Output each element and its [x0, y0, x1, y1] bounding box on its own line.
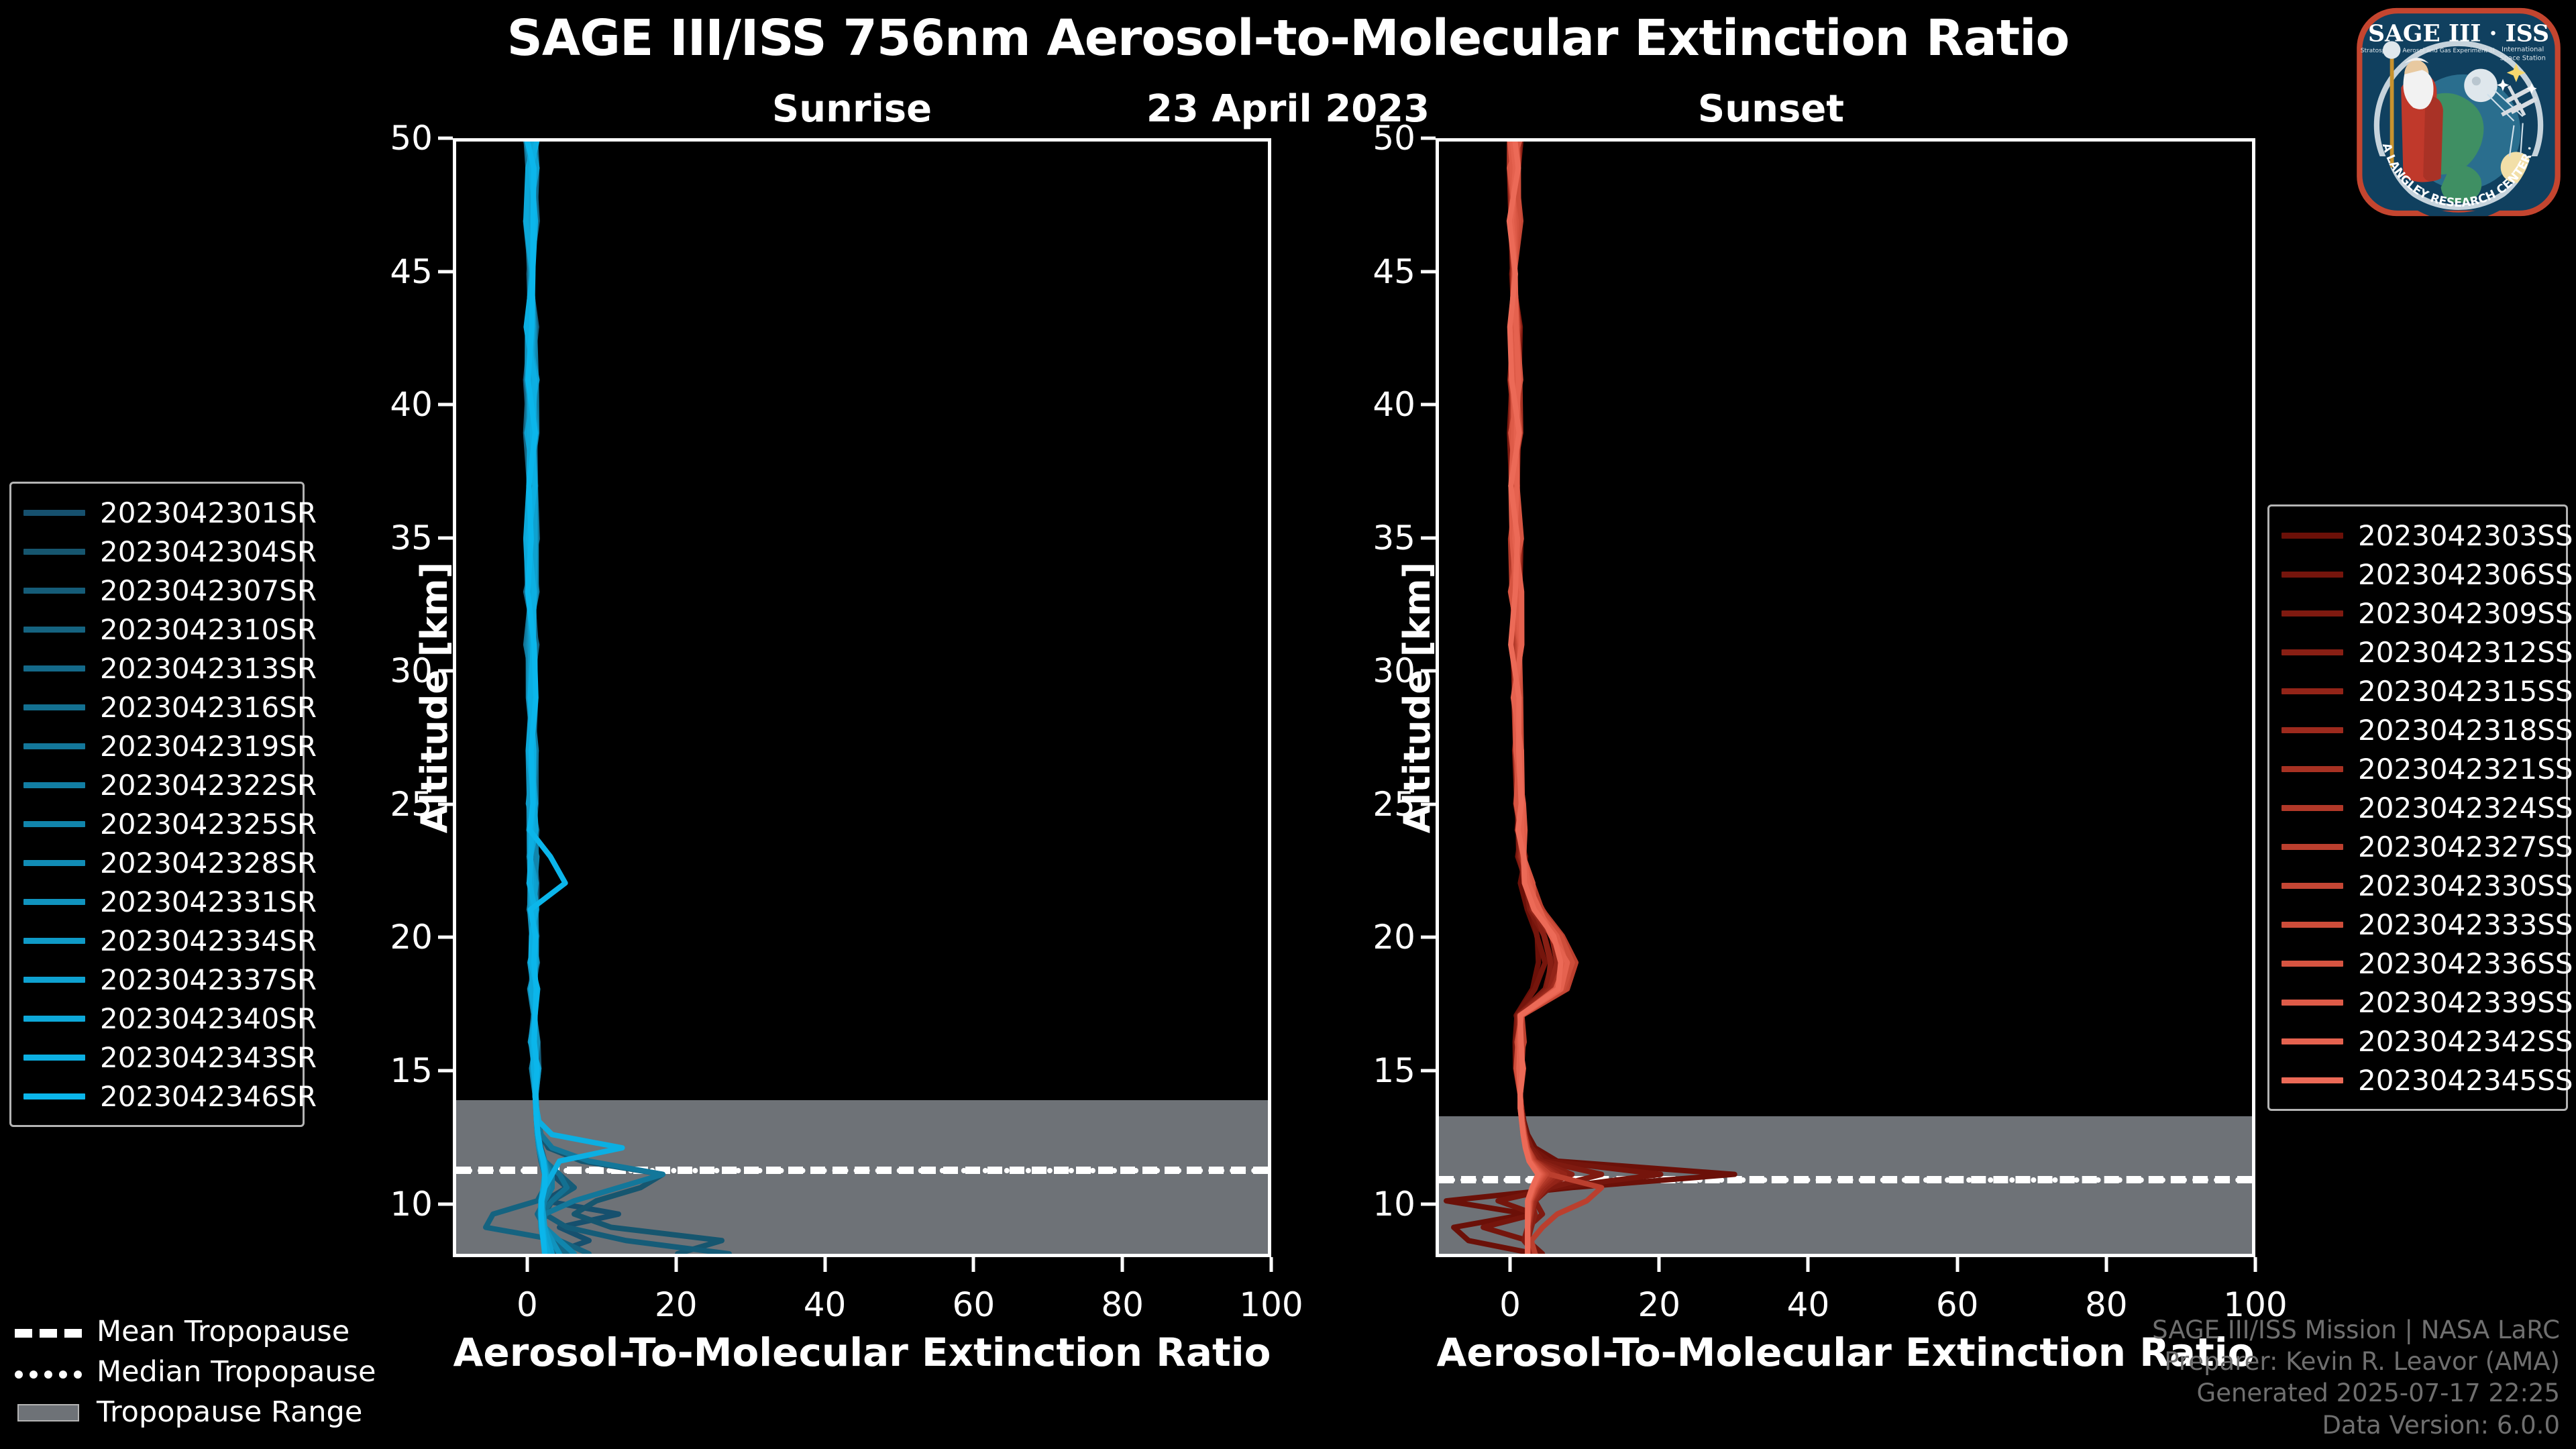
legend-item[interactable]: 2023042339SS: [2282, 983, 2551, 1022]
legend-color-swatch: [23, 549, 85, 555]
y-tick-mark: [1421, 403, 1436, 407]
mean-tropopause-label: Mean Tropopause: [97, 1315, 350, 1348]
y-tick-mark: [1421, 1069, 1436, 1073]
legend-color-swatch: [2282, 1038, 2343, 1044]
y-tick-mark: [1421, 270, 1436, 273]
footer-line-2: Preparer: Kevin R. Leavor (AMA): [2152, 1346, 2560, 1377]
legend-color-swatch: [23, 938, 85, 944]
x-tick-label: 60: [953, 1285, 996, 1324]
legend-item-label: 2023042306SS: [2358, 558, 2573, 591]
x-tick-label: 60: [1936, 1285, 1979, 1324]
footer-line-3: Generated 2025-07-17 22:25: [2152, 1377, 2560, 1409]
sunrise-traces: [456, 142, 1268, 1254]
data-trace: [527, 142, 663, 1254]
legend-item-median-tropopause: Median Tropopause: [15, 1352, 431, 1392]
legend-color-swatch: [2282, 961, 2343, 967]
legend-item-label: 2023042346SR: [100, 1080, 317, 1113]
legend-item[interactable]: 2023042309SS: [2282, 594, 2551, 633]
x-tick-mark: [1121, 1257, 1124, 1272]
legend-color-swatch: [23, 588, 85, 594]
y-tick-mark: [438, 403, 453, 407]
legend-color-swatch: [2282, 883, 2343, 889]
legend-item-label: 2023042342SS: [2358, 1025, 2573, 1058]
legend-item-label: 2023042303SS: [2358, 519, 2573, 552]
legend-item-label: 2023042333SS: [2358, 908, 2573, 941]
logo-line2: Stratospheric Aerosol and Gas Experiment…: [2361, 48, 2495, 54]
legend-color-swatch: [2282, 1000, 2343, 1006]
legend-item-label: 2023042339SS: [2358, 986, 2573, 1019]
sage-iii-iss-logo: SAGE III · ISS Stratospheric Aerosol and…: [2348, 1, 2569, 223]
legend-color-swatch: [23, 821, 85, 827]
tropopause-range-label: Tropopause Range: [97, 1395, 362, 1429]
x-tick-label: 100: [1239, 1285, 1303, 1324]
page-title: SAGE III/ISS 756nm Aerosol-to-Molecular …: [0, 9, 2576, 67]
legend-item[interactable]: 2023042340SR: [23, 999, 288, 1038]
legend-item[interactable]: 2023042321SS: [2282, 749, 2551, 788]
legend-item-label: 2023042336SS: [2358, 947, 2573, 980]
legend-item-label: 2023042313SR: [100, 652, 317, 685]
legend-item[interactable]: 2023042337SR: [23, 960, 288, 999]
legend-item-label: 2023042330SS: [2358, 869, 2573, 902]
x-tick-mark: [1270, 1257, 1273, 1272]
legend-item-label: 2023042318SS: [2358, 714, 2573, 747]
logo-line3b: Space Station: [2500, 54, 2546, 62]
sunrise-plot-frame: [453, 138, 1271, 1257]
legend-item[interactable]: 2023042312SS: [2282, 633, 2551, 672]
legend-item-label: 2023042345SS: [2358, 1064, 2573, 1097]
x-tick-mark: [2104, 1257, 2108, 1272]
median-tropopause-label: Median Tropopause: [97, 1355, 376, 1389]
legend-color-swatch: [23, 860, 85, 866]
legend-item[interactable]: 2023042328SR: [23, 843, 288, 882]
data-trace: [528, 142, 722, 1254]
x-tick-mark: [2254, 1257, 2257, 1272]
legend-color-swatch: [23, 665, 85, 672]
data-trace: [526, 142, 619, 1254]
x-tick-mark: [525, 1257, 529, 1272]
data-trace: [1446, 142, 1735, 1254]
footer-credits: SAGE III/ISS Mission | NASA LaRC Prepare…: [2152, 1314, 2560, 1441]
legend-color-swatch: [2282, 805, 2343, 811]
y-tick-mark: [438, 802, 453, 806]
legend-item-label: 2023042322SR: [100, 769, 317, 802]
sunset-plot-panel: Altitude [km] 101520253035404550 0204060…: [1436, 138, 2255, 1257]
footer-line-1: SAGE III/ISS Mission | NASA LaRC: [2152, 1314, 2560, 1346]
x-tick-mark: [972, 1257, 975, 1272]
legend-item[interactable]: 2023042322SR: [23, 765, 288, 804]
y-tick-mark: [1421, 669, 1436, 673]
legend-item[interactable]: 2023042304SR: [23, 532, 288, 571]
dotted-line-icon: [15, 1363, 82, 1381]
x-axis-label-sunset: Aerosol-To-Molecular Extinction Ratio: [1436, 1330, 2255, 1375]
legend-item[interactable]: 2023042334SR: [23, 921, 288, 960]
data-trace: [527, 142, 729, 1254]
legend-color-swatch: [23, 510, 85, 516]
x-tick-label: 40: [804, 1285, 847, 1324]
legend-item-label: 2023042315SS: [2358, 675, 2573, 708]
x-tick-mark: [823, 1257, 826, 1272]
legend-color-swatch: [2282, 533, 2343, 539]
legend-item[interactable]: 2023042327SS: [2282, 827, 2551, 866]
y-tick-mark: [1421, 536, 1436, 539]
y-tick-mark: [438, 669, 453, 673]
legend-color-swatch: [23, 627, 85, 633]
legend-item-tropopause-range: Tropopause Range: [15, 1392, 431, 1432]
y-tick-mark: [438, 137, 453, 140]
y-tick-mark: [1421, 1202, 1436, 1205]
y-tick-mark: [1421, 802, 1436, 806]
legend-color-swatch: [23, 1093, 85, 1099]
x-tick-mark: [1509, 1257, 1512, 1272]
legend-item-label: 2023042310SR: [100, 613, 317, 646]
legend-color-swatch: [2282, 922, 2343, 928]
y-tick-mark: [438, 936, 453, 939]
x-tick-label: 80: [1101, 1285, 1144, 1324]
sunrise-plot-panel: Altitude [km] 101520253035404550 0204060…: [453, 138, 1271, 1257]
sunset-legend[interactable]: 2023042303SS2023042306SS2023042309SS2023…: [2267, 504, 2568, 1111]
legend-item-label: 2023042334SR: [100, 924, 317, 957]
x-tick-label: 20: [1638, 1285, 1680, 1324]
legend-color-swatch: [2282, 649, 2343, 655]
legend-item[interactable]: 2023042342SS: [2282, 1022, 2551, 1061]
legend-item-label: 2023042337SR: [100, 963, 317, 996]
sunset-plot-frame: [1436, 138, 2255, 1257]
date-subtitle: 23 April 2023: [1053, 87, 1523, 131]
x-tick-mark: [1955, 1257, 1959, 1272]
legend-item[interactable]: 2023042306SS: [2282, 555, 2551, 594]
x-tick-label: 20: [655, 1285, 698, 1324]
legend-color-swatch: [2282, 727, 2343, 733]
logo-line3a: International: [2502, 46, 2544, 53]
legend-item[interactable]: 2023042316SR: [23, 688, 288, 727]
legend-color-swatch: [2282, 610, 2343, 616]
x-tick-label: 80: [2085, 1285, 2128, 1324]
footer-line-4: Data Version: 6.0.0: [2152, 1409, 2560, 1441]
legend-color-swatch: [23, 1016, 85, 1022]
legend-item-label: 2023042324SS: [2358, 792, 2573, 824]
legend-item-label: 2023042327SS: [2358, 830, 2573, 863]
legend-item[interactable]: 2023042318SS: [2282, 710, 2551, 749]
legend-item[interactable]: 2023042345SS: [2282, 1061, 2551, 1099]
legend-item[interactable]: 2023042310SR: [23, 610, 288, 649]
legend-color-swatch: [23, 977, 85, 983]
legend-color-swatch: [23, 782, 85, 788]
legend-item-label: 2023042319SR: [100, 730, 317, 763]
tropopause-legend: Mean Tropopause Median Tropopause Tropop…: [15, 1311, 431, 1432]
y-tick-mark: [438, 536, 453, 539]
legend-item-label: 2023042301SR: [100, 496, 317, 529]
legend-color-swatch: [23, 743, 85, 749]
x-tick-mark: [1807, 1257, 1810, 1272]
sunrise-subtitle: Sunrise: [644, 87, 1060, 131]
legend-item[interactable]: 2023042333SS: [2282, 905, 2551, 944]
x-tick-mark: [1658, 1257, 1661, 1272]
x-axis-label-sunrise: Aerosol-To-Molecular Extinction Ratio: [453, 1330, 1271, 1375]
dashed-line-icon: [15, 1323, 82, 1340]
filled-box-icon: [15, 1403, 82, 1421]
legend-item[interactable]: 2023042343SR: [23, 1038, 288, 1077]
x-tick-mark: [674, 1257, 678, 1272]
legend-color-swatch: [2282, 572, 2343, 578]
legend-item[interactable]: 2023042331SR: [23, 882, 288, 921]
sunrise-legend[interactable]: 2023042301SR2023042304SR2023042307SR2023…: [9, 482, 305, 1127]
data-trace: [1511, 142, 1602, 1254]
y-tick-mark: [438, 1069, 453, 1073]
legend-item[interactable]: 2023042303SS: [2282, 516, 2551, 555]
legend-color-swatch: [2282, 688, 2343, 694]
legend-item[interactable]: 2023042319SR: [23, 727, 288, 765]
legend-item-label: 2023042328SR: [100, 847, 317, 879]
legend-item[interactable]: 2023042336SS: [2282, 944, 2551, 983]
x-tick-label: 0: [1499, 1285, 1521, 1324]
legend-color-swatch: [23, 1055, 85, 1061]
sunset-subtitle: Sunset: [1563, 87, 1979, 131]
legend-item[interactable]: 2023042346SR: [23, 1077, 288, 1116]
legend-item[interactable]: 2023042301SR: [23, 493, 288, 532]
legend-color-swatch: [23, 899, 85, 905]
legend-item[interactable]: 2023042330SS: [2282, 866, 2551, 905]
legend-item-label: 2023042321SS: [2358, 753, 2573, 786]
x-tick-label: 0: [517, 1285, 538, 1324]
legend-item-label: 2023042309SS: [2358, 597, 2573, 630]
legend-item-label: 2023042304SR: [100, 535, 317, 568]
legend-item-label: 2023042331SR: [100, 885, 317, 918]
legend-item[interactable]: 2023042313SR: [23, 649, 288, 688]
y-tick-mark: [438, 270, 453, 273]
legend-color-swatch: [2282, 844, 2343, 850]
legend-item[interactable]: 2023042324SS: [2282, 788, 2551, 827]
legend-item-mean-tropopause: Mean Tropopause: [15, 1311, 431, 1352]
legend-item-label: 2023042312SS: [2358, 636, 2573, 669]
y-tick-mark: [1421, 137, 1436, 140]
legend-item[interactable]: 2023042315SS: [2282, 672, 2551, 710]
legend-item[interactable]: 2023042325SR: [23, 804, 288, 843]
legend-item[interactable]: 2023042307SR: [23, 571, 288, 610]
legend-item-label: 2023042307SR: [100, 574, 317, 607]
logo-line1: SAGE III · ISS: [2368, 19, 2549, 47]
legend-color-swatch: [2282, 766, 2343, 772]
legend-color-swatch: [2282, 1077, 2343, 1083]
legend-item-label: 2023042340SR: [100, 1002, 317, 1035]
x-tick-label: 40: [1787, 1285, 1830, 1324]
data-trace: [526, 142, 622, 1254]
legend-color-swatch: [23, 704, 85, 710]
y-tick-mark: [438, 1202, 453, 1205]
legend-item-label: 2023042343SR: [100, 1041, 317, 1074]
sunset-traces: [1439, 142, 2252, 1254]
legend-item-label: 2023042316SR: [100, 691, 317, 724]
y-tick-mark: [1421, 936, 1436, 939]
legend-item-label: 2023042325SR: [100, 808, 317, 841]
